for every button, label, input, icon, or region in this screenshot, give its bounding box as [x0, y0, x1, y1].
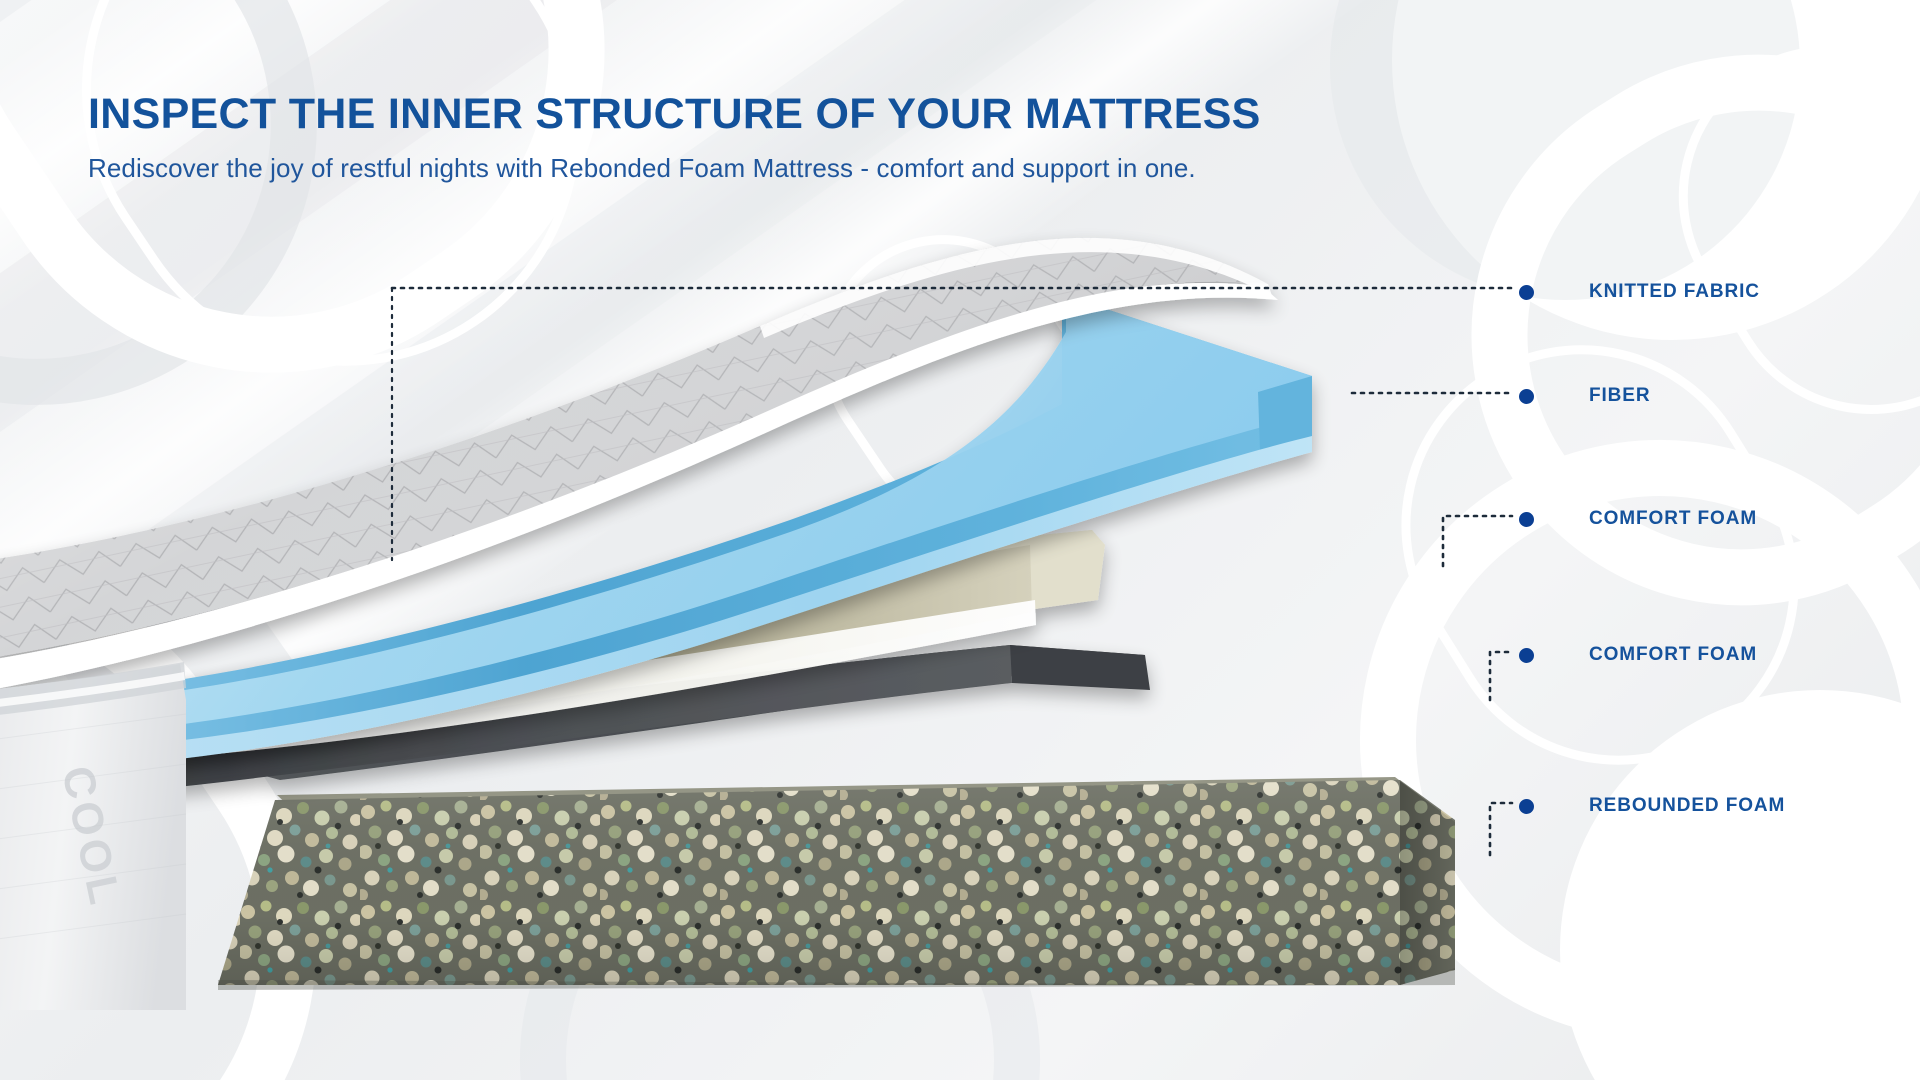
callout-comfort-foam-upper[interactable]: COMFORT FOAM	[1519, 508, 1757, 530]
callout-label: COMFORT FOAM	[1589, 644, 1757, 666]
callout-label: FIBER	[1589, 385, 1651, 407]
page-title: INSPECT THE INNER STRUCTURE OF YOUR MATT…	[88, 92, 1261, 137]
header-block: INSPECT THE INNER STRUCTURE OF YOUR MATT…	[88, 92, 1261, 184]
callout-dot-icon	[1519, 285, 1534, 300]
leader-comfort-foam-lower	[1490, 652, 1512, 700]
callout-rebounded-foam[interactable]: REBOUNDED FOAM	[1519, 795, 1785, 817]
page-subtitle: Rediscover the joy of restful nights wit…	[88, 153, 1261, 184]
callout-dot-icon	[1519, 512, 1534, 527]
callout-knitted-fabric[interactable]: KNITTED FABRIC	[1519, 281, 1760, 303]
callout-comfort-foam-lower[interactable]: COMFORT FOAM	[1519, 644, 1757, 666]
infographic-canvas: INSPECT THE INNER STRUCTURE OF YOUR MATT…	[0, 0, 1920, 1080]
callout-label: REBOUNDED FOAM	[1589, 795, 1785, 817]
leader-comfort-foam-upper	[1443, 516, 1512, 566]
mattress-side-panel: COOL	[0, 662, 186, 1010]
callout-label: COMFORT FOAM	[1589, 508, 1757, 530]
callout-dot-icon	[1519, 799, 1534, 814]
callout-dot-icon	[1519, 648, 1534, 663]
callout-fiber[interactable]: FIBER	[1519, 385, 1651, 407]
leader-rebounded-foam	[1490, 803, 1512, 855]
callout-label: KNITTED FABRIC	[1589, 281, 1760, 303]
layer-rebounded-foam	[180, 760, 1480, 1020]
callout-dot-icon	[1519, 389, 1534, 404]
